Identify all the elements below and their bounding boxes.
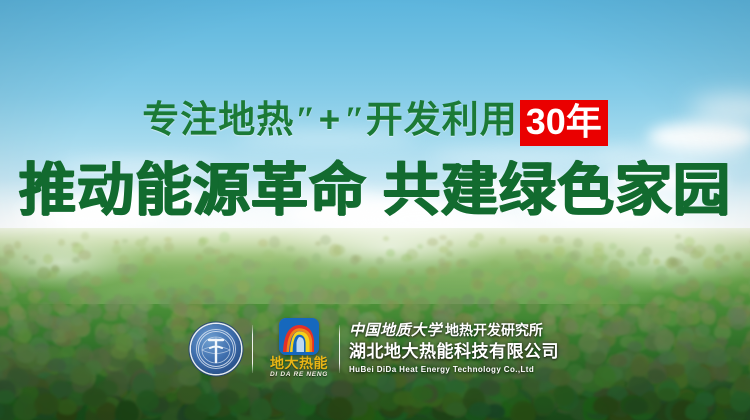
tree-crown [642,247,651,256]
tree-crown [72,275,86,287]
tree-crown [425,267,436,276]
tree-crown [473,280,483,290]
tree-crown [195,394,216,411]
tree-crown [27,277,39,287]
tree-crown [276,394,301,413]
footer-divider [252,325,253,373]
tagline-suffix: 开发利用 [366,99,518,140]
tree-crown [543,263,553,272]
tree-crown [701,285,717,297]
tree-crown [0,390,15,404]
tree-crown [37,267,51,280]
tree-crown [57,399,76,415]
tree-crown [218,389,239,406]
tree-crown [112,245,121,253]
tree-crown [164,242,174,252]
tree-crown [593,396,619,414]
tagline-prefix: 专注地热 [142,99,294,140]
plus-symbol: + [317,99,344,140]
tree-crown [546,301,564,316]
tree-crown [573,238,583,248]
tree-crown [685,280,699,291]
tree-crown [252,289,265,298]
tree-crown [456,269,467,278]
tree-crown [203,247,215,255]
tree-crown [222,284,238,298]
tree-crown [138,299,153,311]
org-line-3-english: HuBei DiDa Heat Energy Technology Co.,Lt… [349,363,559,376]
tree-crown [438,263,450,275]
tree-crown [602,305,615,317]
tree-crown [28,259,35,264]
tree-crown [500,381,518,398]
university-seal-icon [191,324,241,374]
tree-crown [412,386,433,402]
tree-crown [655,279,665,288]
footer-lockup: 地大热能 DI DA RE NENG 中国地质大学地热开发研究所 湖北地大热能科… [0,318,750,379]
tree-crown [721,255,730,262]
tree-crown [439,235,447,240]
tree-crown [135,239,146,247]
organization-names: 中国地质大学地热开发研究所 湖北地大热能科技有限公司 HuBei DiDa He… [349,321,559,376]
geothermal-banner: 专注地热″+″开发利用30年 推动能源革命共建绿色家园 [0,0,750,420]
tree-crown [474,233,484,241]
tree-crown [312,253,321,263]
tree-crown [501,292,511,300]
tree-crown [693,245,706,257]
tree-crown [211,262,224,272]
university-name: 中国地质大学 [349,323,445,339]
tree-crown [538,235,549,243]
tree-crown [571,304,586,316]
tree-crown [675,243,685,251]
tree-crown [676,266,689,276]
tree-crown [743,269,750,278]
tree-crown [553,384,575,406]
tree-crown [126,264,139,273]
dida-logo: 地大热能 DI DA RE NENG [270,318,328,379]
quote-close: ″ [343,100,365,141]
tree-crown [164,237,172,243]
tree-crown [413,285,422,292]
tree-crown [92,293,102,301]
tree-crown [154,289,167,299]
headline-part-2: 共建绿色家园 [383,158,731,222]
tree-crown [742,261,750,268]
rainbow-arc-icon [279,318,319,355]
tree-crown [505,300,518,312]
tree-crown [262,250,275,262]
tree-crown [195,254,203,261]
tree-crown [570,274,583,283]
tree-crown [286,246,294,252]
tree-crown [270,268,278,276]
tree-crown [376,257,385,265]
tree-crown [315,241,322,246]
tree-crown [295,257,309,271]
tree-crown [48,291,60,302]
tree-crown [28,290,41,302]
tree-crown [356,288,369,299]
tree-crown [589,296,601,308]
tagline-line: 专注地热″+″开发利用30年 [0,98,750,146]
dida-brand-cn: 地大热能 [270,356,328,370]
tree-crown [577,288,588,300]
tree-crown [685,402,708,420]
tree-crown [657,388,677,401]
tree-crown [613,280,625,291]
institute-name: 地热开发研究所 [445,322,543,338]
years-badge: 30年 [520,100,608,146]
tree-crown [4,250,15,259]
headline-block: 专注地热″+″开发利用30年 推动能源革命共建绿色家园 [0,98,750,222]
tree-crown [609,243,617,249]
tree-crown [114,240,119,245]
tree-crown [501,269,513,278]
tree-crown [401,254,412,262]
tree-crown [446,240,453,247]
tree-crown [512,269,521,278]
tree-crown [544,254,552,260]
tree-crown [624,398,649,415]
tree-crown [250,398,272,420]
tree-crown [383,236,389,241]
tree-crown [34,393,59,415]
tree-crown [348,273,358,280]
tree-crown [140,247,147,254]
tree-crown [447,297,463,313]
tree-crown [122,239,128,243]
tree-crown [664,297,678,310]
tree-crown [653,258,660,265]
tree-crown [58,239,65,246]
tree-crown [258,239,269,247]
tree-crown [14,241,22,249]
tree-crown [219,232,231,243]
tree-crown [386,249,395,257]
tree-crown [90,276,102,286]
tree-crown [530,254,542,265]
tree-crown [320,270,330,278]
tree-crown [570,250,581,261]
tree-crown [616,249,626,258]
tree-crown [146,278,158,290]
tree-crown [78,250,91,259]
tree-crown [387,300,400,309]
tree-crown [185,265,198,276]
tree-crown [533,396,554,414]
tree-crown [402,298,414,307]
tree-crown [331,380,353,398]
tree-crown [413,297,430,311]
tree-crown [43,254,53,264]
tree-crown [543,280,555,289]
tree-crown [82,388,107,407]
footer-divider-2 [339,325,340,373]
tree-crown [734,377,750,392]
tree-crown [469,402,491,417]
tree-crown [446,251,454,256]
tree-crown [52,301,66,312]
tree-crown [517,256,524,263]
tree-crown [284,277,298,292]
tree-crown [18,286,28,293]
tree-crown [331,268,342,279]
tree-crown [204,297,216,305]
tree-crown [329,244,342,257]
tree-crown [730,390,750,413]
tree-crown [703,257,717,271]
tree-crown [160,261,168,267]
tree-crown [313,287,328,301]
tree-crown [627,261,635,267]
tree-crown [675,234,682,240]
tree-crown [350,255,360,265]
main-headline: 推动能源革命共建绿色家园 [0,158,750,222]
tree-crown [272,283,282,291]
tree-crown [81,232,89,240]
tree-crown [372,285,388,300]
tree-crown [189,284,202,297]
tree-crown [71,298,82,309]
dida-mark-icon [279,318,319,355]
tree-crown [327,397,353,420]
tree-crown [174,302,187,315]
tree-crown [584,277,598,289]
tree-crown [720,276,732,286]
tree-crown [490,260,500,268]
tree-crown [229,268,243,277]
tree-crown [460,259,470,266]
tree-crown [104,299,119,312]
tree-crown [367,267,379,279]
tree-crown [406,269,415,275]
tree-crown [189,299,202,311]
seal-emblem-icon [191,324,241,374]
tree-crown [269,236,280,248]
tree-crown [120,275,129,283]
tree-crown [554,246,565,257]
tree-crown [143,253,155,265]
tree-crown [734,252,742,260]
tree-crown [537,291,548,299]
org-line-2: 湖北地大热能科技有限公司 [349,341,559,363]
tree-crown [526,299,540,314]
tree-crown [335,290,350,305]
quote-open: ″ [294,100,316,141]
tree-crown [734,295,745,303]
tree-crown [417,244,423,249]
tree-crown [86,304,102,319]
org-line-1: 中国地质大学地热开发研究所 [349,321,559,341]
headline-part-1: 推动能源革命 [19,158,367,222]
tree-crown [461,294,475,306]
tree-crown [427,238,439,246]
tree-crown [245,266,256,275]
tree-crown [517,286,532,298]
tree-crown [714,244,725,254]
tree-crown [670,258,684,267]
tree-crown [202,274,217,287]
tree-crown [553,236,564,244]
tree-crown [499,237,507,245]
tree-crown [237,280,250,292]
tree-crown [136,390,159,410]
tree-crown [320,235,332,246]
dida-brand-pinyin: DI DA RE NENG [270,370,328,379]
tree-crown [656,266,667,275]
tree-crown [199,237,209,244]
